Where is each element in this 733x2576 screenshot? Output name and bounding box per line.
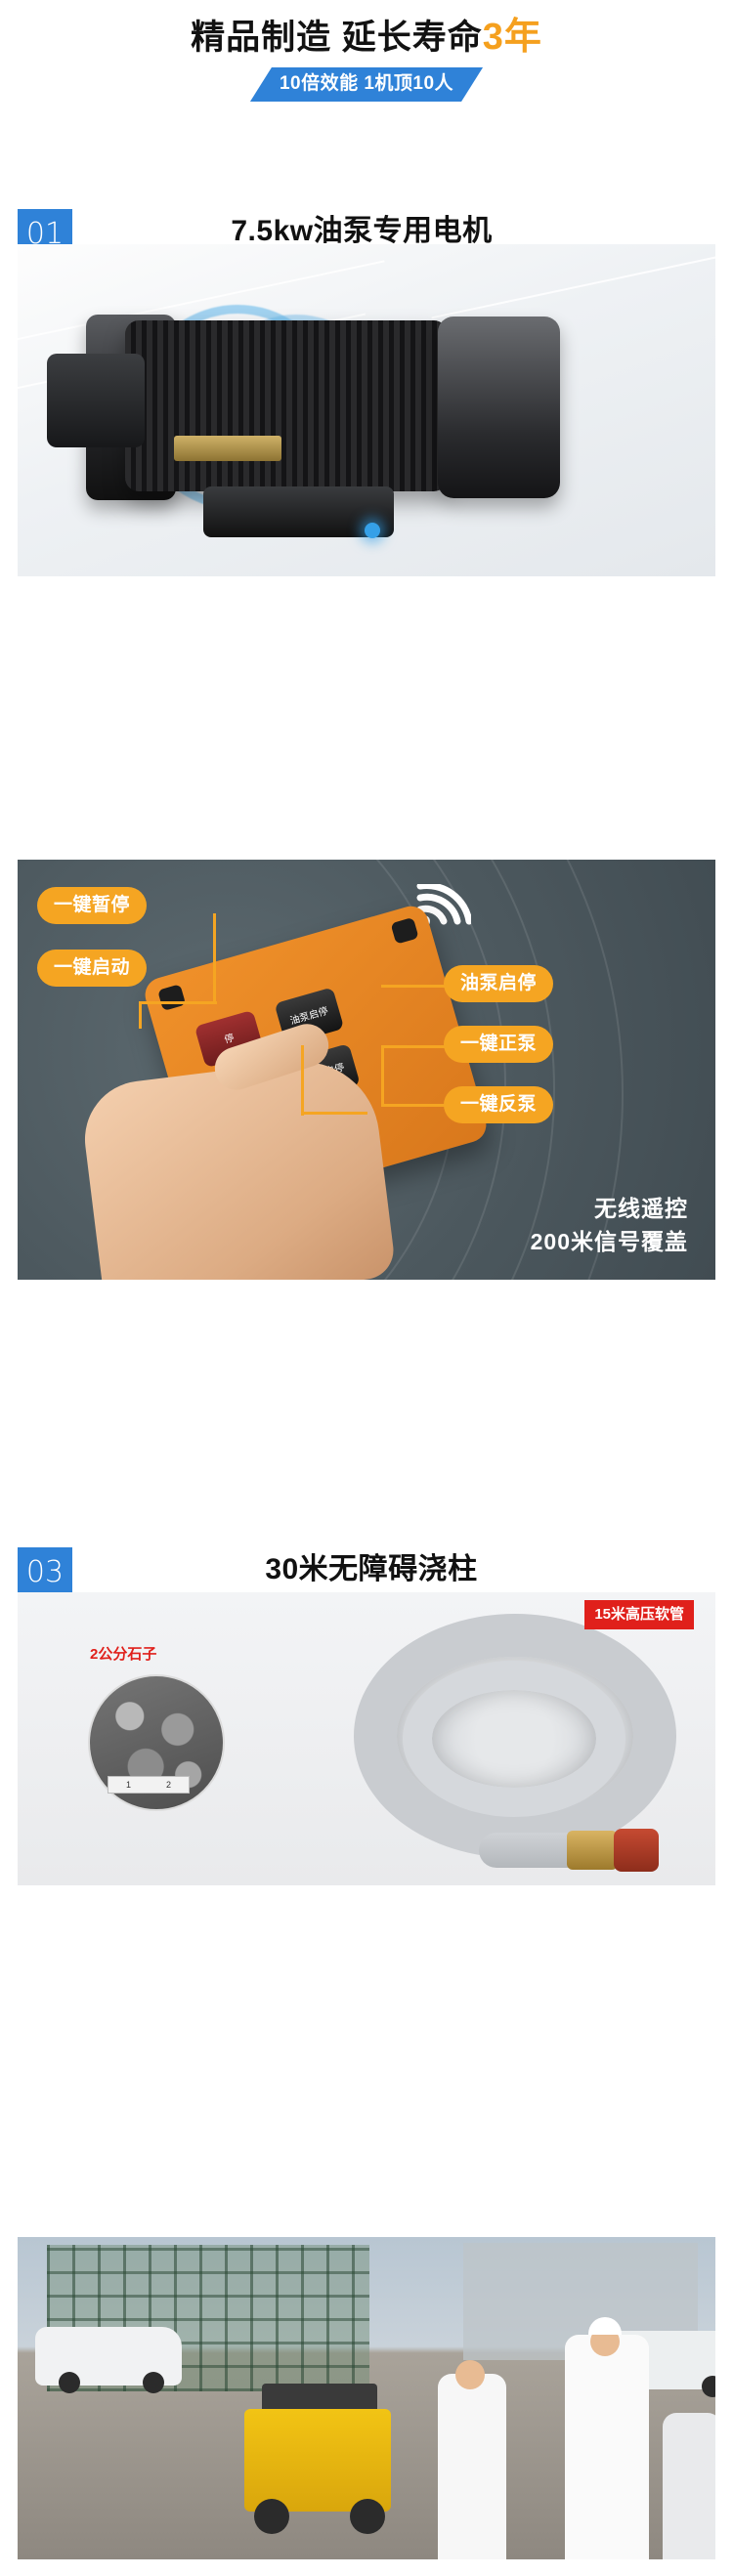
vehicle-wheel (702, 2376, 715, 2397)
ruler-mark-2: 2 (166, 1780, 171, 1790)
callout-lead-line (381, 1045, 384, 1106)
callout-pause: 一键暂停 (37, 887, 147, 924)
callout-lead-line (301, 1045, 304, 1116)
remote-screw (391, 917, 419, 945)
section-01-photo (18, 244, 715, 576)
page-title: 精品制造 延长寿命3年 (0, 14, 733, 62)
callout-lead-line (139, 1001, 217, 1004)
motor-end-cap-right (438, 317, 560, 498)
callout-lead-line (301, 1112, 367, 1115)
vehicle-wheel (59, 2372, 80, 2393)
callout-pump-toggle: 油泵启停 (444, 965, 553, 1002)
oil-pump-block (47, 354, 145, 447)
high-pressure-hose-coil-inner (403, 1661, 625, 1817)
page-title-main: 精品制造 延长寿命 (191, 19, 483, 57)
vehicle-wheel (143, 2372, 164, 2393)
remote-note-line1: 无线遥控 (531, 1192, 688, 1225)
section-04-photo (18, 2237, 715, 2559)
callout-lead-line (139, 1001, 142, 1029)
worker-person (438, 2374, 506, 2559)
callout-lead-line (213, 913, 216, 1003)
header-ribbon: 10倍效能 1机顶10人 (250, 67, 483, 102)
hose-red-coupler (614, 1829, 659, 1872)
machine-wheel (350, 2499, 385, 2534)
remote-screw (157, 984, 186, 1011)
page-title-accent: 3年 (483, 17, 542, 58)
motor-nameplate (174, 436, 281, 461)
callout-forward-pump: 一键正泵 (444, 1026, 553, 1063)
section-03-photo: 1 2 2公分石子 15米高压软管 (18, 1592, 715, 1885)
section-03-heading: 30米无障碍浇柱 (117, 1549, 625, 1590)
worker-head (455, 2360, 485, 2389)
page-footer-space (0, 2559, 733, 2576)
callout-start: 一键启动 (37, 950, 147, 987)
worker-person (565, 2335, 649, 2559)
motor-body (125, 320, 448, 491)
remote-coverage-note: 无线遥控 200米信号覆盖 (531, 1192, 688, 1258)
page-header: 精品制造 延长寿命3年 10倍效能 1机顶10人 (0, 0, 733, 102)
secondary-structural-pump (244, 2409, 391, 2512)
tag-hose-length: 15米高压软管 (584, 1600, 694, 1629)
ruler-mark-1: 1 (126, 1780, 131, 1790)
tag-gravel-size: 2公分石子 (90, 1643, 156, 1664)
indicator-light (365, 523, 380, 538)
ruler-scale: 1 2 (108, 1776, 190, 1794)
photo-streak (431, 250, 715, 319)
hose-brass-fitting (567, 1831, 618, 1870)
remote-note-line2: 200米信号覆盖 (531, 1225, 688, 1258)
machine-wheel (254, 2499, 289, 2534)
callout-reverse-pump: 一键反泵 (444, 1086, 553, 1123)
product-detail-page: 精品制造 延长寿命3年 10倍效能 1机顶10人 01 7.5kw油泵专用电机 … (0, 0, 733, 2576)
worker-person (663, 2413, 715, 2559)
section-02-photo: 停 油泵启停 启动 正泵启停 备用 反泵 一键暂停 一键启动 油泵启停 一键正泵… (18, 860, 715, 1280)
